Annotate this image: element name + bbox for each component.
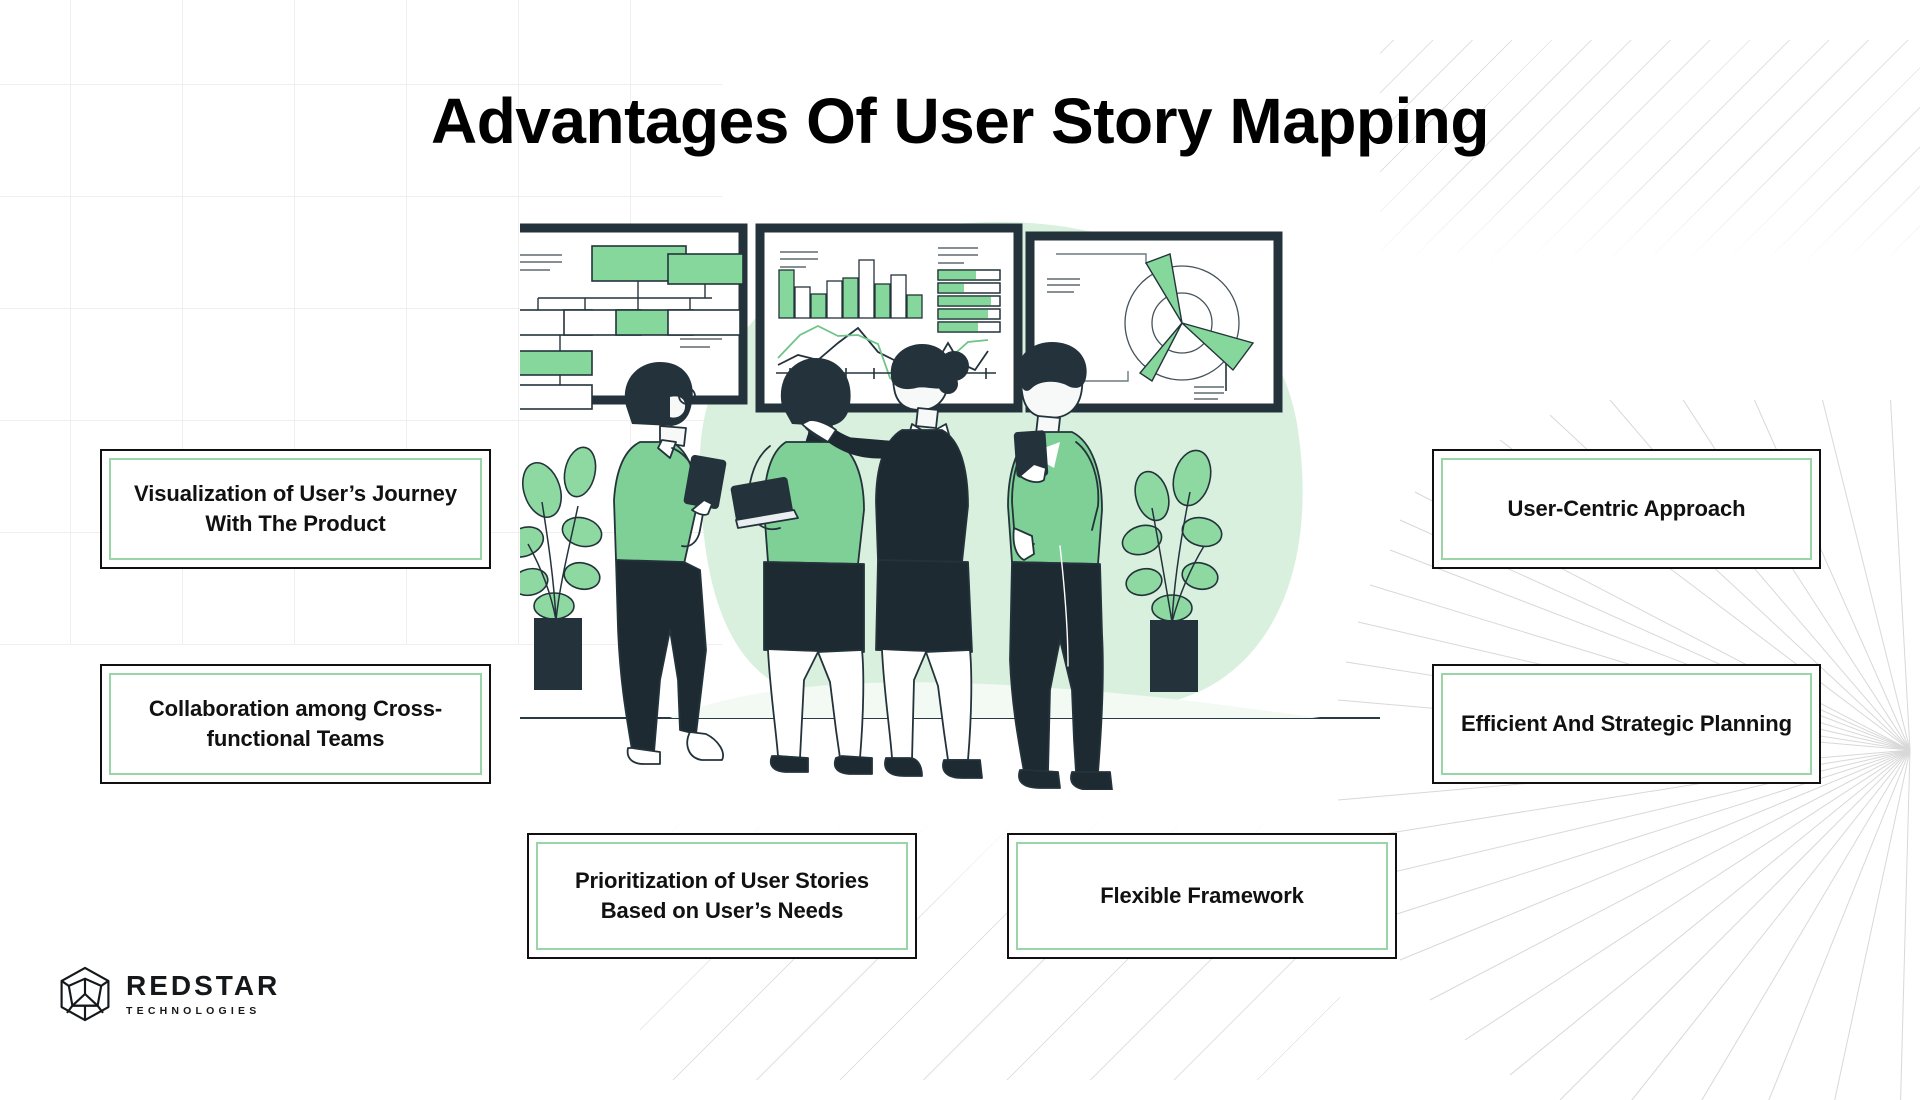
slide-canvas: Advantages Of User Story Mapping: [0, 0, 1920, 1080]
feature-box-efficient-planning[interactable]: Efficient And Strategic Planning: [1432, 664, 1821, 784]
progress-bars: [938, 270, 1000, 332]
hexagon-polyhedron-icon: [58, 966, 112, 1022]
feature-box-label: User-Centric Approach: [1508, 494, 1746, 524]
feature-box-flexible-framework[interactable]: Flexible Framework: [1007, 833, 1397, 959]
feature-box-inner: Efficient And Strategic Planning: [1441, 673, 1812, 775]
brand-logo[interactable]: REDSTAR TECHNOLOGIES: [58, 963, 298, 1025]
user-story-mapping-illustration: [520, 210, 1420, 790]
logo-name: REDSTAR: [126, 972, 280, 1000]
feature-box-inner: Visualization of User’s Journey With The…: [109, 458, 482, 560]
feature-box-collaboration[interactable]: Collaboration among Cross-functional Tea…: [100, 664, 491, 784]
logo-text: REDSTAR TECHNOLOGIES: [126, 972, 280, 1017]
feature-box-inner: Prioritization of User Stories Based on …: [536, 842, 908, 950]
feature-box-inner: User-Centric Approach: [1441, 458, 1812, 560]
feature-box-label: Prioritization of User Stories Based on …: [554, 866, 890, 927]
feature-box-inner: Flexible Framework: [1016, 842, 1388, 950]
feature-box-prioritization[interactable]: Prioritization of User Stories Based on …: [527, 833, 917, 959]
feature-box-label: Flexible Framework: [1100, 881, 1304, 911]
logo-subtitle: TECHNOLOGIES: [126, 1006, 280, 1017]
feature-box-visualization[interactable]: Visualization of User’s Journey With The…: [100, 449, 491, 569]
feature-box-label: Visualization of User’s Journey With The…: [127, 479, 464, 540]
feature-box-user-centric[interactable]: User-Centric Approach: [1432, 449, 1821, 569]
page-title: Advantages Of User Story Mapping: [0, 88, 1920, 155]
feature-box-label: Collaboration among Cross-functional Tea…: [127, 694, 464, 755]
feature-box-label: Efficient And Strategic Planning: [1461, 709, 1792, 739]
feature-box-inner: Collaboration among Cross-functional Tea…: [109, 673, 482, 775]
plant-left: [520, 444, 605, 690]
